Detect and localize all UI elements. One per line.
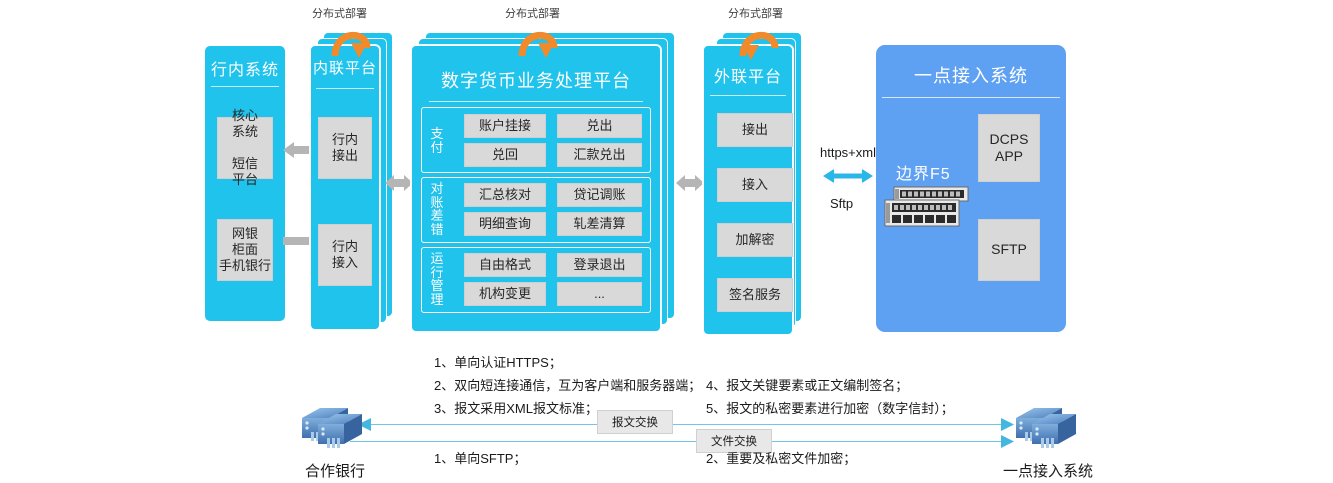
chip-ebank-counter-mobile[interactable]: 网银 柜面 手机银行	[217, 219, 273, 281]
orange-loop-arrow-intranet	[330, 22, 372, 60]
label-distributed-external: 分布式部署	[728, 5, 783, 21]
arrow-intranet-to-dcep	[385, 174, 413, 192]
chip-intranet-in[interactable]: 行内 接入	[318, 224, 372, 286]
chip-account-link[interactable]: 账户挂接	[464, 114, 546, 138]
tag-message-exchange: 报文交换	[597, 410, 673, 434]
panel-external-platform-title: 外联平台	[704, 63, 792, 87]
group-operations-label: 运行管理	[429, 252, 445, 307]
panel-intra-system-title: 行内系统	[205, 56, 285, 80]
chip-login-logout[interactable]: 登录退出	[557, 253, 642, 277]
server-icon-partner-bank	[296, 404, 362, 452]
divider	[710, 95, 786, 96]
chip-external-out[interactable]: 接出	[717, 113, 793, 147]
server-icon-single-access	[1010, 404, 1076, 452]
note-left-2: 2、双向短连接通信，互为客户端和服务器端；	[434, 375, 701, 394]
chip-netting-settlement[interactable]: 轧差清算	[557, 212, 642, 236]
chip-external-in[interactable]: 接入	[717, 168, 793, 202]
chip-remittance-out[interactable]: 汇款兑出	[557, 143, 642, 167]
chip-encrypt-decrypt[interactable]: 加解密	[717, 223, 793, 257]
panel-intranet-platform-title: 内联平台	[311, 57, 379, 78]
orange-loop-arrow-external	[738, 22, 780, 60]
chip-detail-query[interactable]: 明细查询	[464, 212, 546, 236]
chip-core-system[interactable]: 核心 系统 短信 平台	[217, 117, 273, 179]
chip-intranet-out[interactable]: 行内 接出	[318, 117, 372, 179]
divider	[429, 101, 642, 102]
caption-partner-bank: 合作银行	[280, 460, 390, 481]
chip-exchange-back[interactable]: 兑回	[464, 143, 546, 167]
note-left-lower-1: 1、单向SFTP；	[434, 448, 526, 467]
note-left-1: 1、单向认证HTTPS；	[434, 352, 562, 371]
note-left-3: 3、报文采用XML报文标准；	[434, 398, 598, 417]
arrow-https-sftp-bidirectional	[823, 166, 873, 186]
chip-credit-adjust[interactable]: 贷记调账	[557, 183, 642, 207]
f5-switch-icon	[884, 186, 974, 228]
panel-dcep-platform-title: 数字货币业务处理平台	[412, 67, 660, 93]
chip-org-change[interactable]: 机构变更	[464, 282, 546, 306]
flowline-file-exchange	[350, 441, 1003, 442]
divider	[316, 88, 375, 89]
label-border-f5: 边界F5	[896, 160, 951, 184]
panel-single-access-system-title: 一点接入系统	[876, 62, 1066, 88]
chip-signature-service[interactable]: 签名服务	[717, 278, 793, 312]
divider	[882, 97, 1061, 98]
orange-loop-arrow-dcep	[517, 22, 559, 60]
note-right-4: 4、报文关键要素或正文编制签名；	[706, 375, 908, 394]
chip-more[interactable]: ...	[557, 282, 642, 306]
caption-single-access-system: 一点接入系统	[988, 460, 1108, 481]
flowline-message-exchange	[368, 424, 1003, 425]
chip-sftp[interactable]: SFTP	[978, 219, 1040, 281]
label-https-xml: https+xml	[820, 145, 876, 160]
label-sftp: Sftp	[830, 196, 853, 211]
divider	[211, 86, 280, 87]
group-payment-label: 支付	[429, 127, 445, 154]
chip-dcps-app[interactable]: DCPS APP	[978, 114, 1040, 182]
arrow-dcep-to-external	[676, 174, 704, 192]
chip-free-format[interactable]: 自由格式	[464, 253, 546, 277]
note-right-5: 5、报文的私密要素进行加密（数字信封）；	[706, 398, 954, 417]
architecture-diagram: 行内系统 核心 系统 短信 平台 网银 柜面 手机银行 分布式部署 内联平台 行…	[0, 0, 1333, 483]
label-distributed-dcep: 分布式部署	[505, 5, 560, 21]
chip-exchange-out[interactable]: 兑出	[557, 114, 642, 138]
note-right-lower-2: 2、重要及私密文件加密；	[706, 448, 856, 467]
group-reconciliation-label: 对账差错	[429, 182, 445, 237]
chip-summary-check[interactable]: 汇总核对	[464, 183, 546, 207]
panel-intranet-platform[interactable]: 内联平台	[310, 45, 380, 330]
label-distributed-intranet: 分布式部署	[312, 5, 367, 21]
